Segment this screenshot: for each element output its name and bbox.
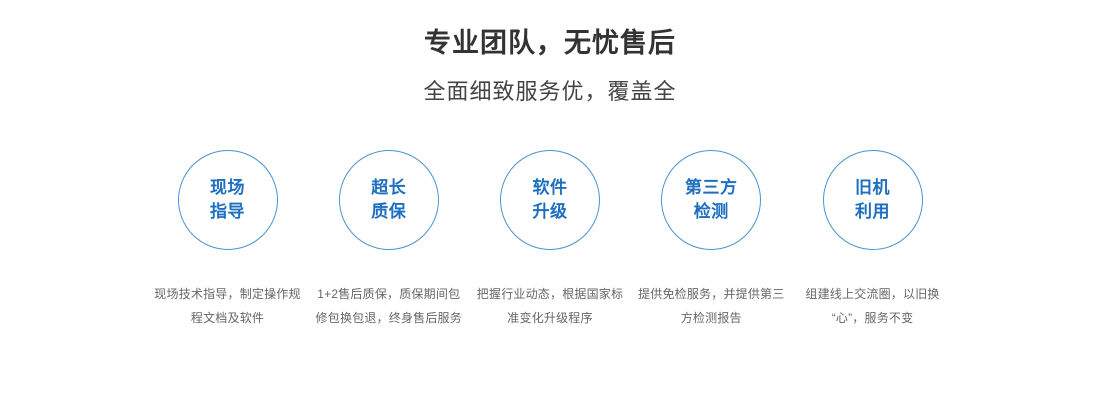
service-promo-banner: 专业团队，无忧售后 全面细致服务优，覆盖全 现场 指导 现场技术指导，制定操作规… [0, 0, 1100, 404]
feature-circle-label-line2: 利用 [855, 200, 890, 224]
banner-header: 专业团队，无忧售后 全面细致服务优，覆盖全 [0, 0, 1100, 106]
feature-item-software-upgrade: 软件 升级 把握行业动态，根据国家标准变化升级程序 [473, 150, 628, 330]
feature-item-extended-warranty: 超长 质保 1+2售后质保，质保期间包修包换包退，终身售后服务 [311, 150, 466, 330]
feature-circle-label-line1: 第三方 [685, 176, 738, 200]
feature-circle-onsite-guidance: 现场 指导 [178, 150, 278, 250]
feature-circle-label-line2: 指导 [210, 200, 245, 224]
feature-description: 组建线上交流圈，以旧换“心”，服务不变 [795, 282, 950, 330]
page-title: 专业团队，无忧售后 [0, 0, 1100, 59]
feature-description: 提供免检服务，并提供第三方检测报告 [634, 282, 789, 330]
feature-list: 现场 指导 现场技术指导，制定操作规程文档及软件 超长 质保 1+2售后质保，质… [150, 150, 950, 330]
feature-circle-label-line2: 检测 [694, 200, 729, 224]
page-subtitle: 全面细致服务优，覆盖全 [0, 59, 1100, 105]
feature-item-third-party-testing: 第三方 检测 提供免检服务，并提供第三方检测报告 [634, 150, 789, 330]
feature-circle-label-line1: 现场 [210, 176, 245, 200]
feature-circle-extended-warranty: 超长 质保 [339, 150, 439, 250]
feature-item-old-machine-reuse: 旧机 利用 组建线上交流圈，以旧换“心”，服务不变 [795, 150, 950, 330]
feature-description: 现场技术指导，制定操作规程文档及软件 [150, 282, 305, 330]
feature-description: 1+2售后质保，质保期间包修包换包退，终身售后服务 [311, 282, 466, 330]
feature-circle-old-machine-reuse: 旧机 利用 [823, 150, 923, 250]
feature-circle-label-line2: 升级 [533, 200, 568, 224]
feature-circle-label-line1: 软件 [533, 176, 568, 200]
feature-circle-software-upgrade: 软件 升级 [500, 150, 600, 250]
feature-circle-label-line2: 质保 [371, 200, 406, 224]
feature-circle-third-party-testing: 第三方 检测 [661, 150, 761, 250]
feature-circle-label-line1: 超长 [371, 176, 406, 200]
feature-circle-label-line1: 旧机 [855, 176, 890, 200]
feature-item-onsite-guidance: 现场 指导 现场技术指导，制定操作规程文档及软件 [150, 150, 305, 330]
feature-description: 把握行业动态，根据国家标准变化升级程序 [473, 282, 628, 330]
